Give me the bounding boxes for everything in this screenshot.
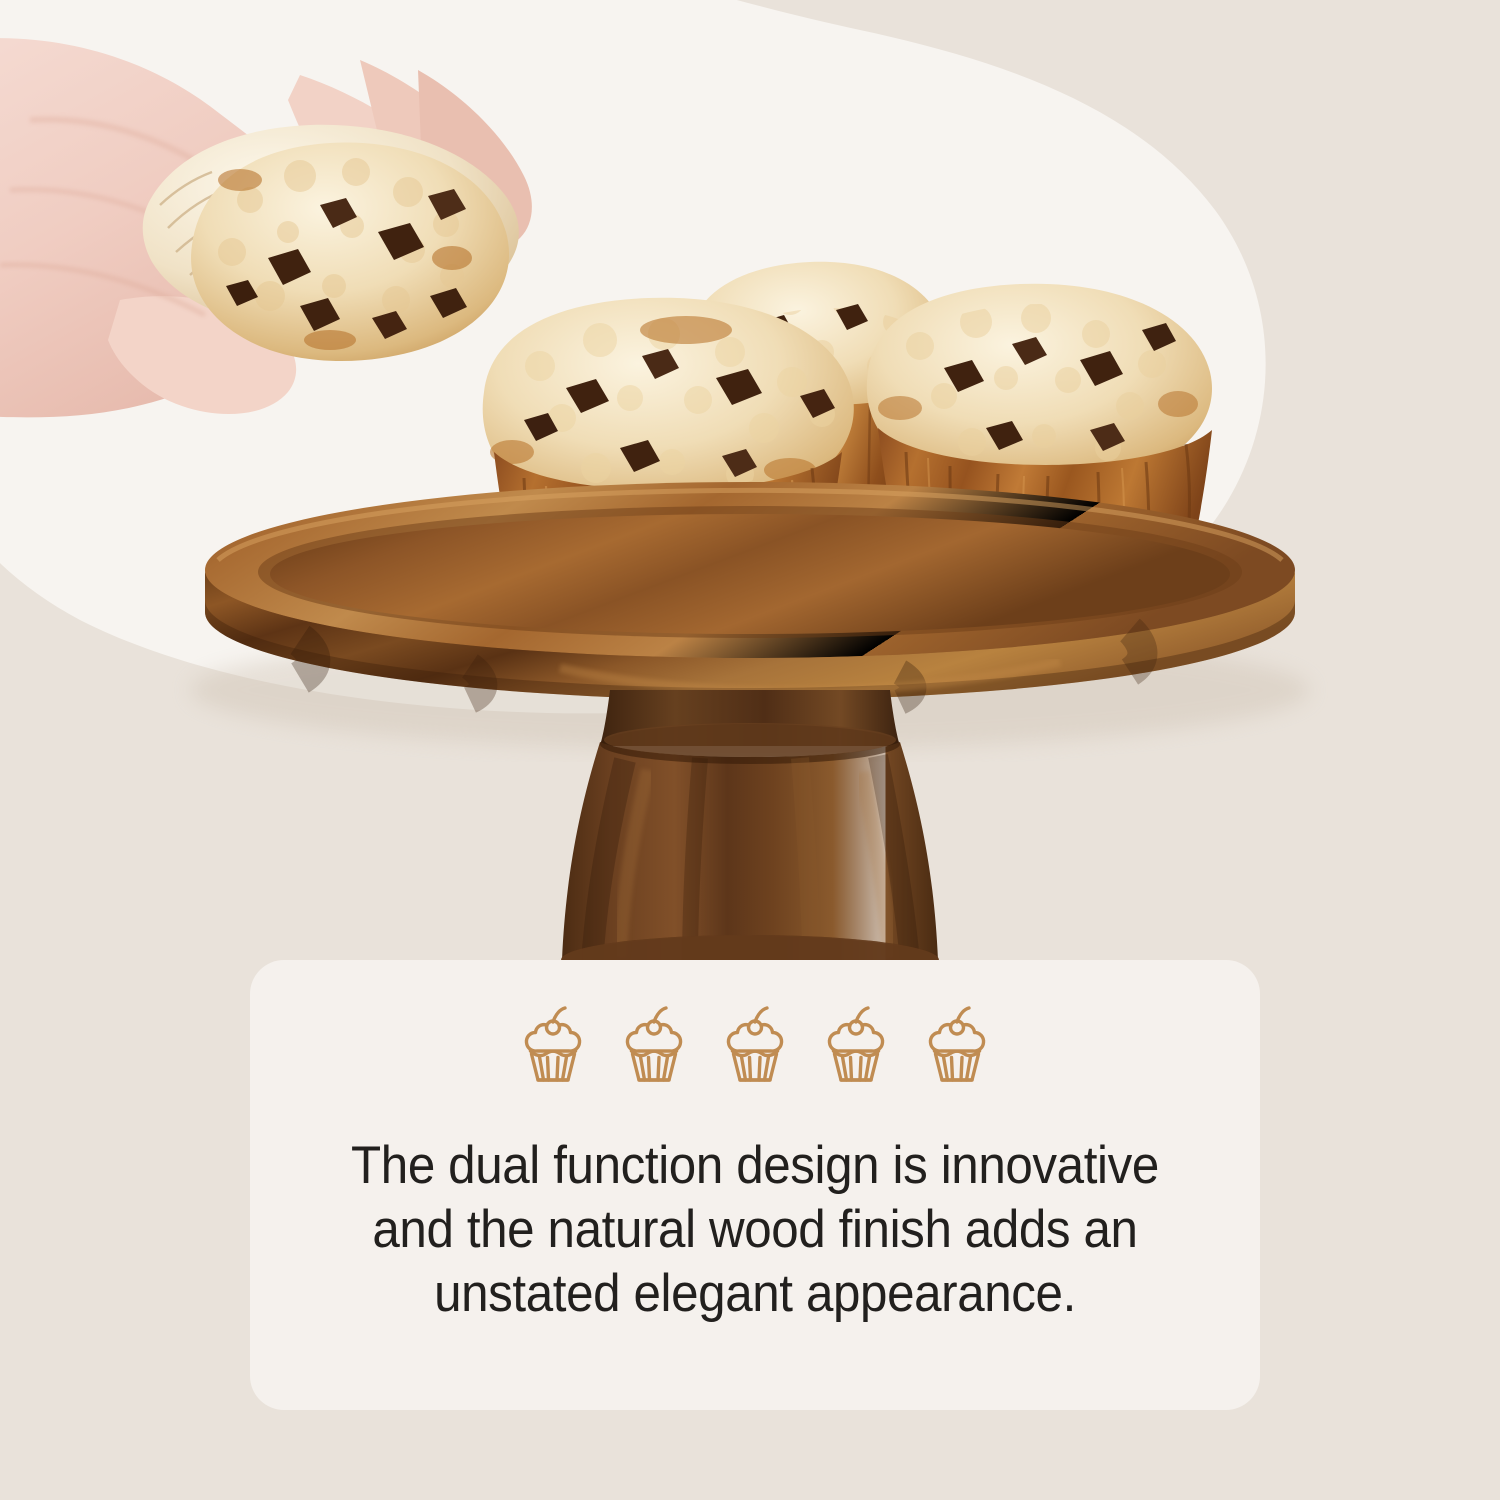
cake-stand — [190, 482, 1310, 1004]
testimonial-card: The dual function design is innovative a… — [250, 960, 1260, 1410]
cupcake-icon — [517, 1004, 589, 1088]
cupcake-icon — [921, 1004, 993, 1088]
cupcake-icon — [719, 1004, 791, 1088]
hand-holding-muffin — [0, 38, 532, 417]
cupcake-icon — [820, 1004, 892, 1088]
rating-cupcakes — [517, 1004, 993, 1088]
cupcake-icon — [618, 1004, 690, 1088]
testimonial-quote: The dual function design is innovative a… — [318, 1134, 1192, 1326]
muffin-crumb-top — [191, 143, 509, 361]
product-marketing-image: The dual function design is innovative a… — [0, 0, 1500, 1500]
